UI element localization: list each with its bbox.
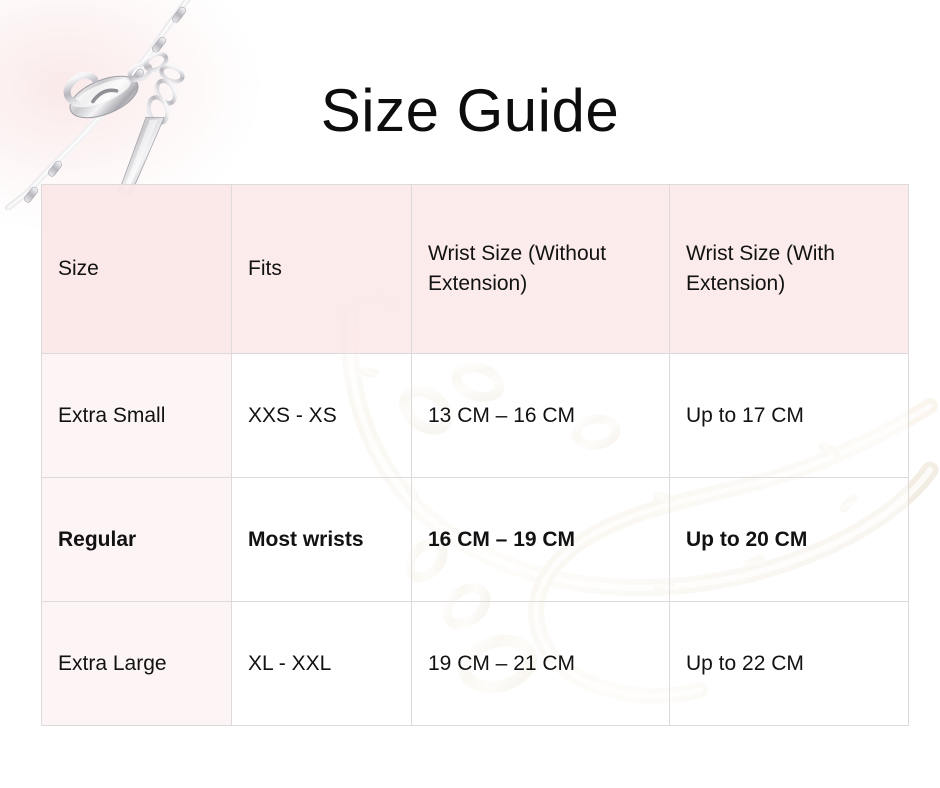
column-header-wrist-size-with-extension: Wrist Size (With Extension) xyxy=(670,185,909,354)
table-row: Extra Small XXS - XS 13 CM – 16 CM Up to… xyxy=(42,354,909,478)
cell-wrist-with-extension: Up to 22 CM xyxy=(670,602,909,726)
cell-size: Regular xyxy=(42,478,232,602)
table-header: Size Fits Wrist Size (Without Extension)… xyxy=(42,185,909,354)
size-guide-table: Size Fits Wrist Size (Without Extension)… xyxy=(41,184,909,726)
table-body: Extra Small XXS - XS 13 CM – 16 CM Up to… xyxy=(42,354,909,726)
cell-wrist-with-extension: Up to 17 CM xyxy=(670,354,909,478)
column-header-size: Size xyxy=(42,185,232,354)
table-row: Regular Most wrists 16 CM – 19 CM Up to … xyxy=(42,478,909,602)
page-title: Size Guide xyxy=(0,78,940,144)
cell-wrist-without-extension: 13 CM – 16 CM xyxy=(412,354,670,478)
size-guide-table-wrap: Size Fits Wrist Size (Without Extension)… xyxy=(41,184,908,726)
cell-fits: Most wrists xyxy=(232,478,412,602)
table-header-row: Size Fits Wrist Size (Without Extension)… xyxy=(42,185,909,354)
cell-size: Extra Small xyxy=(42,354,232,478)
size-guide-page: Size Guide Size Fits Wrist Size (Without… xyxy=(0,0,940,788)
cell-wrist-with-extension: Up to 20 CM xyxy=(670,478,909,602)
column-header-fits: Fits xyxy=(232,185,412,354)
cell-fits: XXS - XS xyxy=(232,354,412,478)
cell-wrist-without-extension: 16 CM – 19 CM xyxy=(412,478,670,602)
cell-fits: XL - XXL xyxy=(232,602,412,726)
table-row: Extra Large XL - XXL 19 CM – 21 CM Up to… xyxy=(42,602,909,726)
cell-size: Extra Large xyxy=(42,602,232,726)
column-header-wrist-size-without-extension: Wrist Size (Without Extension) xyxy=(412,185,670,354)
cell-wrist-without-extension: 19 CM – 21 CM xyxy=(412,602,670,726)
